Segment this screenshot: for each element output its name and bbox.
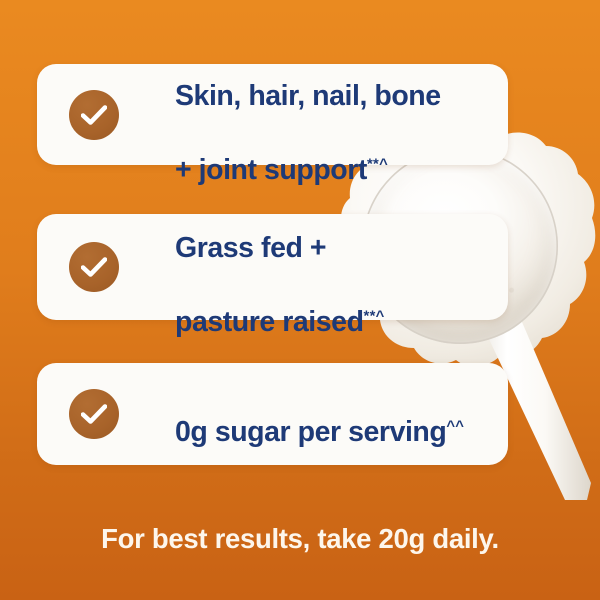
check-icon bbox=[69, 90, 119, 140]
benefit-footnote-marker: ^^ bbox=[446, 418, 464, 434]
product-benefits-infographic: Skin, hair, nail, bone + joint support**… bbox=[0, 0, 600, 600]
benefit-line-2: pasture raised bbox=[175, 306, 364, 338]
benefit-card: 0g sugar per serving^^ bbox=[37, 363, 508, 465]
benefit-card: Skin, hair, nail, bone + joint support**… bbox=[37, 64, 508, 165]
benefit-line-2: + joint support bbox=[175, 154, 367, 186]
benefit-footnote-marker: **^ bbox=[367, 156, 388, 172]
benefit-line-1: Skin, hair, nail, bone bbox=[175, 80, 441, 112]
benefit-label: Grass fed + pasture raised**^ bbox=[175, 193, 492, 341]
usage-instruction: For best results, take 20g daily. bbox=[0, 523, 600, 555]
benefit-card: Grass fed + pasture raised**^ bbox=[37, 214, 508, 320]
benefit-label: Skin, hair, nail, bone + joint support**… bbox=[175, 41, 492, 189]
check-icon bbox=[69, 389, 119, 439]
benefit-label: 0g sugar per serving^^ bbox=[175, 377, 492, 451]
benefit-footnote-marker: **^ bbox=[364, 308, 385, 324]
benefit-line-1: 0g sugar per serving bbox=[175, 416, 446, 448]
check-icon bbox=[69, 242, 119, 292]
benefit-line-1: Grass fed + bbox=[175, 232, 326, 264]
